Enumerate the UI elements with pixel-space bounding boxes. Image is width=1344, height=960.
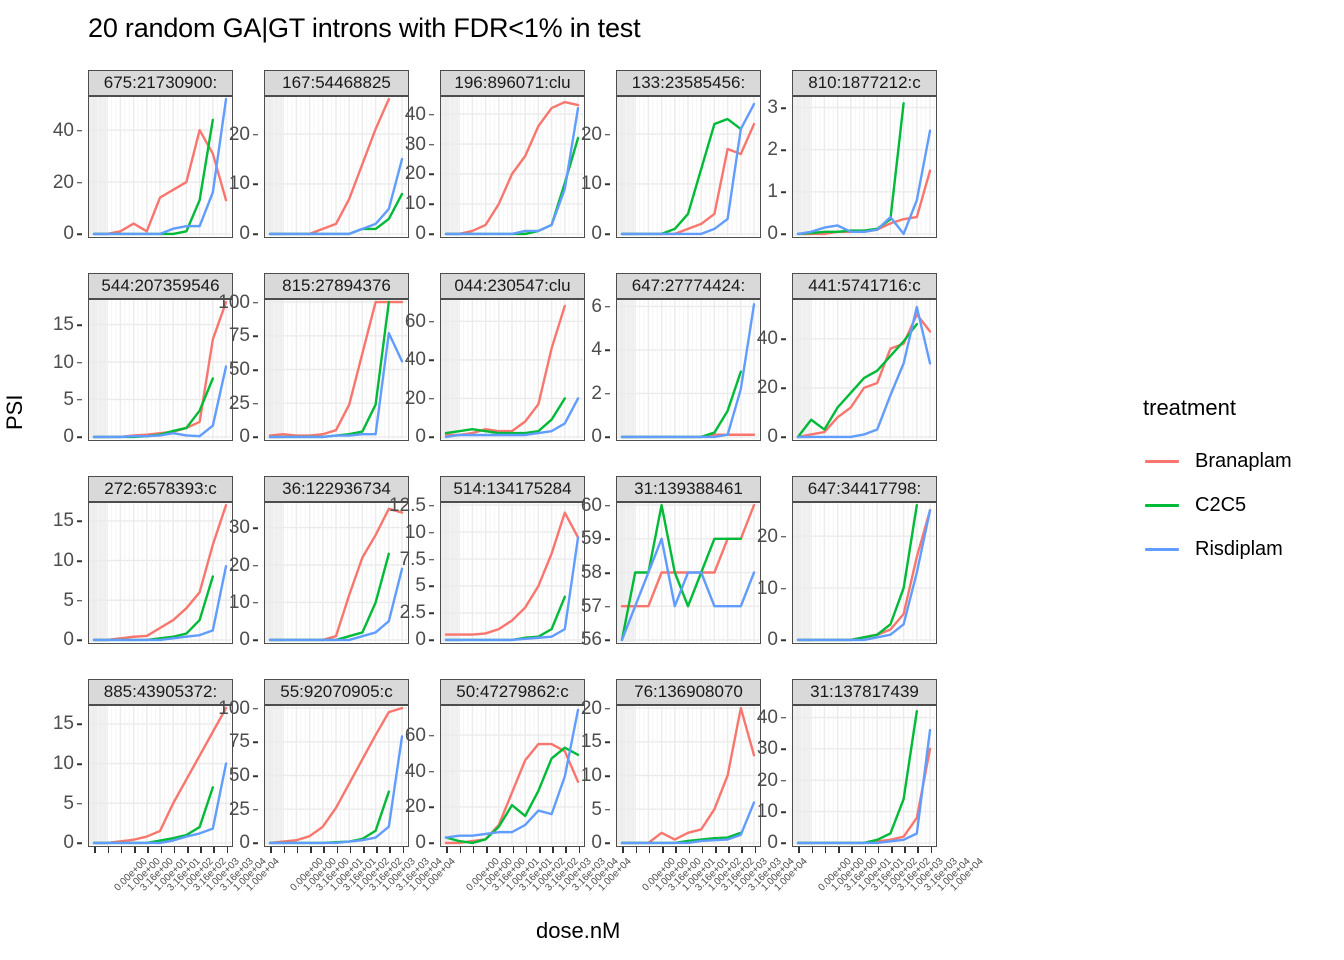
y-tick-label: 0 <box>767 629 778 651</box>
y-tick-label: 15 <box>581 731 602 753</box>
plot-panel <box>792 299 937 441</box>
y-tick-label: 20 <box>229 555 250 577</box>
x-tick-mark <box>499 847 501 853</box>
plot-panel <box>88 502 233 644</box>
y-tick-label: 0 <box>239 223 250 245</box>
facet-panel: 044:230547:clu0204060 <box>440 273 585 441</box>
facet-strip-label: 133:23585456: <box>616 70 761 96</box>
facet-strip-label: 544:207359546 <box>88 273 233 299</box>
facet-panel: 31:1393884615657585960 <box>616 476 761 644</box>
legend-color-swatch <box>1143 492 1181 518</box>
y-tick-mark <box>781 536 786 538</box>
facet-panel: 885:43905372:0510150.00e+001.00e+003.16e… <box>88 679 233 847</box>
facet-panel: 133:23585456:01020 <box>616 70 761 238</box>
y-tick-mark <box>429 771 434 773</box>
y-tick-label: 75 <box>229 325 250 347</box>
y-tick-mark <box>253 234 258 236</box>
facet-panel: 647:34417798:01020 <box>792 476 937 644</box>
y-tick-mark <box>605 350 610 352</box>
y-tick-label: 10 <box>229 173 250 195</box>
x-tick-mark <box>798 847 800 853</box>
x-tick-mark <box>702 847 704 853</box>
y-tick-mark <box>605 775 610 777</box>
plot-panel <box>440 502 585 644</box>
legend-item-label: Risdiplam <box>1195 538 1283 561</box>
plot-panel <box>264 96 409 238</box>
facet-panel: 815:278943760255075100 <box>264 273 409 441</box>
y-tick-label: 2 <box>591 383 602 405</box>
y-tick-mark <box>605 393 610 395</box>
ggplot-figure: 20 random GA|GT introns with FDR<1% in t… <box>0 0 1344 960</box>
y-tick-mark <box>781 192 786 194</box>
y-tick-label: 10 <box>405 193 426 215</box>
y-tick-mark <box>429 640 434 642</box>
y-tick-mark <box>429 532 434 534</box>
y-tick-mark <box>605 572 610 574</box>
y-tick-label: 20 <box>581 698 602 720</box>
y-tick-mark <box>429 114 434 116</box>
y-tick-mark <box>429 505 434 507</box>
legend-item-c2c5[interactable]: C2C5 <box>1143 483 1292 527</box>
y-tick-label: 50 <box>229 359 250 381</box>
plot-panel <box>88 96 233 238</box>
x-tick-mark <box>147 847 149 853</box>
y-tick-mark <box>605 843 610 845</box>
x-tick-mark <box>878 847 880 853</box>
y-tick-mark <box>253 640 258 642</box>
x-axis-ticks: 0.00e+001.00e+003.16e+001.00e+013.16e+01… <box>264 847 409 907</box>
x-tick-mark <box>622 847 624 853</box>
page-title: 20 random GA|GT introns with FDR<1% in t… <box>88 13 640 44</box>
y-tick-label: 5 <box>415 575 426 597</box>
y-tick-label: 60 <box>405 311 426 333</box>
x-tick-mark <box>134 847 136 853</box>
facet-panel: 810:1877212:c0123 <box>792 70 937 238</box>
plot-panel <box>264 299 409 441</box>
x-tick-mark <box>675 847 677 853</box>
facet-strip-label: 675:21730900: <box>88 70 233 96</box>
x-tick-mark <box>187 847 189 853</box>
y-tick-mark <box>781 149 786 151</box>
y-tick-label: 2.5 <box>400 602 426 624</box>
facet-grid: 675:21730900:02040167:5446882501020196:8… <box>0 60 1120 860</box>
y-tick-label: 30 <box>757 738 778 760</box>
plot-panel <box>792 502 937 644</box>
facet-strip-text: 810:1877212:c <box>808 70 921 96</box>
x-tick-mark <box>94 847 96 853</box>
x-tick-mark <box>121 847 123 853</box>
y-tick-mark <box>781 234 786 236</box>
y-tick-label: 50 <box>229 765 250 787</box>
x-axis-ticks: 0.00e+001.00e+003.16e+001.00e+013.16e+01… <box>440 847 585 907</box>
y-tick-mark <box>781 339 786 341</box>
y-tick-mark <box>253 602 258 604</box>
y-tick-mark <box>605 184 610 186</box>
legend: treatment BranaplamC2C5Risdiplam <box>1143 395 1292 571</box>
legend-color-swatch <box>1143 448 1181 474</box>
x-tick-mark <box>161 847 163 853</box>
x-tick-mark <box>108 847 110 853</box>
y-tick-mark <box>77 763 82 765</box>
y-tick-mark <box>77 324 82 326</box>
y-tick-label: 6 <box>591 296 602 318</box>
y-tick-label: 25 <box>229 393 250 415</box>
y-tick-mark <box>605 437 610 439</box>
plot-panel <box>616 705 761 847</box>
facet-strip-text: 441:5741716:c <box>808 273 921 299</box>
facet-strip-label: 50:47279862:c <box>440 679 585 705</box>
y-tick-label: 5 <box>63 389 74 411</box>
x-tick-mark <box>917 847 919 853</box>
y-tick-mark <box>429 398 434 400</box>
y-tick-mark <box>429 144 434 146</box>
legend-line-icon <box>1145 504 1179 507</box>
y-tick-mark <box>605 505 610 507</box>
y-tick-label: 20 <box>757 526 778 548</box>
y-tick-label: 20 <box>229 124 250 146</box>
x-tick-mark <box>389 847 391 853</box>
y-tick-label: 59 <box>581 528 602 550</box>
legend-item-label: C2C5 <box>1195 494 1246 517</box>
y-tick-mark <box>77 640 82 642</box>
legend-line-icon <box>1145 548 1179 551</box>
y-tick-mark <box>781 437 786 439</box>
y-tick-mark <box>253 369 258 371</box>
y-tick-label: 40 <box>757 328 778 350</box>
plot-panel <box>616 502 761 644</box>
y-tick-label: 60 <box>405 725 426 747</box>
facet-panel: 50:47279862:c02040600.00e+001.00e+003.16… <box>440 679 585 847</box>
facet-strip-text: 272:6578393:c <box>104 476 217 502</box>
facet-strip-text: 815:27894376 <box>282 273 391 299</box>
x-tick-mark <box>200 847 202 853</box>
y-tick-label: 0 <box>415 426 426 448</box>
y-tick-label: 15 <box>53 713 74 735</box>
y-tick-label: 25 <box>229 799 250 821</box>
x-tick-mark <box>446 847 448 853</box>
y-tick-mark <box>429 174 434 176</box>
y-tick-label: 0 <box>415 832 426 854</box>
legend-title: treatment <box>1143 395 1292 421</box>
y-tick-mark <box>253 437 258 439</box>
y-tick-label: 12.5 <box>389 495 426 517</box>
y-tick-mark <box>605 640 610 642</box>
facet-strip-text: 36:122936734 <box>282 476 391 502</box>
y-tick-label: 40 <box>757 707 778 729</box>
y-tick-label: 0 <box>415 223 426 245</box>
y-tick-label: 60 <box>581 495 602 517</box>
plot-panel <box>264 705 409 847</box>
y-tick-mark <box>253 403 258 405</box>
facet-strip-label: 55:92070905:c <box>264 679 409 705</box>
y-tick-mark <box>429 559 434 561</box>
x-axis-ticks: 0.00e+001.00e+003.16e+001.00e+013.16e+01… <box>88 847 233 907</box>
y-tick-label: 20 <box>757 377 778 399</box>
facet-strip-label: 044:230547:clu <box>440 273 585 299</box>
y-tick-label: 2 <box>767 139 778 161</box>
x-tick-mark <box>931 847 933 853</box>
facet-strip-text: 133:23585456: <box>632 70 745 96</box>
facet-panel: 36:1229367340102030 <box>264 476 409 644</box>
plot-panel <box>440 96 585 238</box>
y-tick-label: 10 <box>229 592 250 614</box>
x-tick-mark <box>376 847 378 853</box>
plot-panel <box>792 96 937 238</box>
y-tick-label: 0 <box>63 629 74 651</box>
y-tick-label: 5 <box>591 799 602 821</box>
y-tick-mark <box>77 234 82 236</box>
facet-strip-text: 76:136908070 <box>634 679 743 705</box>
facet-strip-label: 167:54468825 <box>264 70 409 96</box>
y-tick-mark <box>605 742 610 744</box>
facet-strip-text: 514:134175284 <box>453 476 571 502</box>
legend-item-label: Branaplam <box>1195 450 1292 473</box>
x-tick-mark <box>513 847 515 853</box>
y-tick-mark <box>605 306 610 308</box>
y-tick-mark <box>605 809 610 811</box>
y-tick-mark <box>429 360 434 362</box>
x-tick-mark <box>649 847 651 853</box>
x-tick-mark <box>310 847 312 853</box>
facet-strip-label: 514:134175284 <box>440 476 585 502</box>
facet-strip-text: 544:207359546 <box>101 273 219 299</box>
y-tick-mark <box>429 321 434 323</box>
facet-strip-label: 885:43905372: <box>88 679 233 705</box>
y-tick-label: 0 <box>591 832 602 854</box>
x-tick-mark <box>174 847 176 853</box>
y-tick-label: 0 <box>63 223 74 245</box>
y-tick-mark <box>77 803 82 805</box>
y-tick-label: 15 <box>53 510 74 532</box>
x-tick-mark <box>460 847 462 853</box>
y-tick-label: 58 <box>581 562 602 584</box>
legend-item-branaplam[interactable]: Branaplam <box>1143 439 1292 483</box>
x-tick-mark <box>662 847 664 853</box>
y-tick-mark <box>253 708 258 710</box>
y-tick-mark <box>429 586 434 588</box>
facet-strip-label: 272:6578393:c <box>88 476 233 502</box>
plot-panel <box>264 502 409 644</box>
y-tick-mark <box>781 640 786 642</box>
y-tick-label: 0 <box>591 223 602 245</box>
y-tick-label: 30 <box>229 517 250 539</box>
y-tick-label: 75 <box>229 731 250 753</box>
x-tick-mark <box>891 847 893 853</box>
facet-strip-label: 647:27774424: <box>616 273 761 299</box>
y-tick-mark <box>781 749 786 751</box>
y-tick-mark <box>77 130 82 132</box>
y-tick-mark <box>429 807 434 809</box>
y-tick-label: 0 <box>415 629 426 651</box>
y-tick-label: 10 <box>53 550 74 572</box>
facet-strip-text: 196:896071:clu <box>454 70 570 96</box>
y-tick-mark <box>605 539 610 541</box>
y-tick-mark <box>605 234 610 236</box>
facet-strip-label: 76:136908070 <box>616 679 761 705</box>
y-tick-label: 0 <box>767 832 778 854</box>
facet-panel: 675:21730900:02040 <box>88 70 233 238</box>
y-tick-label: 4 <box>591 339 602 361</box>
x-tick-mark <box>403 847 405 853</box>
y-tick-label: 10 <box>757 578 778 600</box>
plot-panel <box>88 299 233 441</box>
y-tick-mark <box>253 336 258 338</box>
x-tick-mark <box>552 847 554 853</box>
facet-panel: 76:136908070051015200.00e+001.00e+003.16… <box>616 679 761 847</box>
y-tick-label: 0 <box>63 832 74 854</box>
facet-strip-text: 044:230547:clu <box>454 273 570 299</box>
x-tick-mark <box>865 847 867 853</box>
y-tick-label: 1 <box>767 181 778 203</box>
y-tick-mark <box>77 362 82 364</box>
y-tick-mark <box>781 811 786 813</box>
facet-strip-label: 196:896071:clu <box>440 70 585 96</box>
plot-panel <box>616 299 761 441</box>
y-tick-mark <box>781 388 786 390</box>
x-tick-mark <box>270 847 272 853</box>
y-tick-label: 5 <box>63 590 74 612</box>
x-tick-mark <box>363 847 365 853</box>
y-tick-mark <box>429 234 434 236</box>
x-tick-mark <box>636 847 638 853</box>
y-tick-mark <box>781 717 786 719</box>
facet-strip-text: 50:47279862:c <box>456 679 569 705</box>
x-axis-ticks: 0.00e+001.00e+003.16e+001.00e+013.16e+01… <box>792 847 937 907</box>
y-tick-mark <box>781 780 786 782</box>
x-tick-mark <box>337 847 339 853</box>
x-tick-mark <box>728 847 730 853</box>
y-tick-mark <box>77 724 82 726</box>
y-tick-label: 0 <box>63 426 74 448</box>
y-tick-mark <box>77 560 82 562</box>
facet-panel: 647:27774424:0246 <box>616 273 761 441</box>
facet-panel: 55:92070905:c02550751000.00e+001.00e+003… <box>264 679 409 847</box>
y-tick-mark <box>253 809 258 811</box>
y-tick-label: 7.5 <box>400 549 426 571</box>
y-tick-label: 57 <box>581 596 602 618</box>
legend-line-icon <box>1145 460 1179 463</box>
x-tick-mark <box>284 847 286 853</box>
y-tick-label: 20 <box>757 770 778 792</box>
x-tick-mark <box>539 847 541 853</box>
y-tick-label: 0 <box>239 629 250 651</box>
y-tick-mark <box>77 521 82 523</box>
y-tick-label: 0 <box>767 223 778 245</box>
y-tick-mark <box>429 735 434 737</box>
y-tick-label: 56 <box>581 629 602 651</box>
facet-panel: 31:1378174390102030400.00e+001.00e+003.1… <box>792 679 937 847</box>
y-tick-label: 10 <box>581 765 602 787</box>
y-tick-mark <box>781 843 786 845</box>
x-tick-mark <box>755 847 757 853</box>
x-tick-mark <box>227 847 229 853</box>
y-tick-mark <box>253 184 258 186</box>
x-tick-mark <box>565 847 567 853</box>
facet-strip-text: 31:137817439 <box>810 679 919 705</box>
y-tick-mark <box>77 399 82 401</box>
x-tick-mark <box>812 847 814 853</box>
y-tick-label: 20 <box>405 163 426 185</box>
y-tick-label: 40 <box>405 104 426 126</box>
y-tick-label: 100 <box>218 698 250 720</box>
y-tick-label: 100 <box>218 292 250 314</box>
facet-panel: 514:13417528402.557.51012.5 <box>440 476 585 644</box>
facet-panel: 167:5446882501020 <box>264 70 409 238</box>
y-tick-mark <box>253 775 258 777</box>
y-tick-mark <box>605 606 610 608</box>
x-tick-mark <box>526 847 528 853</box>
y-tick-label: 20 <box>405 796 426 818</box>
y-tick-label: 20 <box>581 124 602 146</box>
y-tick-label: 0 <box>591 426 602 448</box>
y-tick-label: 0 <box>767 426 778 448</box>
x-tick-mark <box>689 847 691 853</box>
facet-strip-text: 675:21730900: <box>104 70 217 96</box>
x-tick-mark <box>486 847 488 853</box>
y-tick-label: 20 <box>53 172 74 194</box>
x-tick-mark <box>715 847 717 853</box>
y-tick-mark <box>77 600 82 602</box>
facet-strip-label: 36:122936734 <box>264 476 409 502</box>
y-tick-label: 30 <box>405 134 426 156</box>
facet-strip-label: 815:27894376 <box>264 273 409 299</box>
plot-panel <box>440 705 585 847</box>
y-tick-mark <box>77 182 82 184</box>
y-tick-mark <box>77 437 82 439</box>
plot-panel <box>440 299 585 441</box>
facet-strip-label: 31:137817439 <box>792 679 937 705</box>
x-tick-mark <box>904 847 906 853</box>
x-tick-mark <box>825 847 827 853</box>
facet-strip-text: 647:27774424: <box>632 273 745 299</box>
y-tick-label: 40 <box>405 349 426 371</box>
y-tick-mark <box>781 107 786 109</box>
x-tick-mark <box>213 847 215 853</box>
facet-panel: 441:5741716:c02040 <box>792 273 937 441</box>
y-tick-mark <box>429 843 434 845</box>
y-tick-label: 10 <box>405 522 426 544</box>
facet-strip-text: 55:92070905:c <box>280 679 393 705</box>
y-tick-mark <box>253 742 258 744</box>
y-tick-mark <box>429 204 434 206</box>
y-tick-label: 10 <box>757 801 778 823</box>
x-tick-mark <box>323 847 325 853</box>
y-tick-mark <box>253 565 258 567</box>
facet-strip-label: 441:5741716:c <box>792 273 937 299</box>
y-tick-label: 10 <box>53 352 74 374</box>
facet-strip-label: 647:34417798: <box>792 476 937 502</box>
facet-panel: 544:207359546051015 <box>88 273 233 441</box>
y-tick-mark <box>781 588 786 590</box>
plot-panel <box>88 705 233 847</box>
y-tick-mark <box>253 134 258 136</box>
y-tick-mark <box>429 613 434 615</box>
facet-strip-text: 31:139388461 <box>634 476 743 502</box>
plot-panel <box>616 96 761 238</box>
y-tick-label: 10 <box>581 173 602 195</box>
y-tick-mark <box>253 843 258 845</box>
y-tick-label: 40 <box>405 761 426 783</box>
y-tick-label: 20 <box>405 388 426 410</box>
y-tick-label: 3 <box>767 97 778 119</box>
legend-color-swatch <box>1143 536 1181 562</box>
x-axis-label: dose.nM <box>536 918 620 944</box>
y-tick-label: 0 <box>239 832 250 854</box>
y-tick-label: 40 <box>53 120 74 142</box>
y-tick-mark <box>253 527 258 529</box>
facet-strip-text: 647:34417798: <box>808 476 921 502</box>
legend-item-risdiplam[interactable]: Risdiplam <box>1143 527 1292 571</box>
